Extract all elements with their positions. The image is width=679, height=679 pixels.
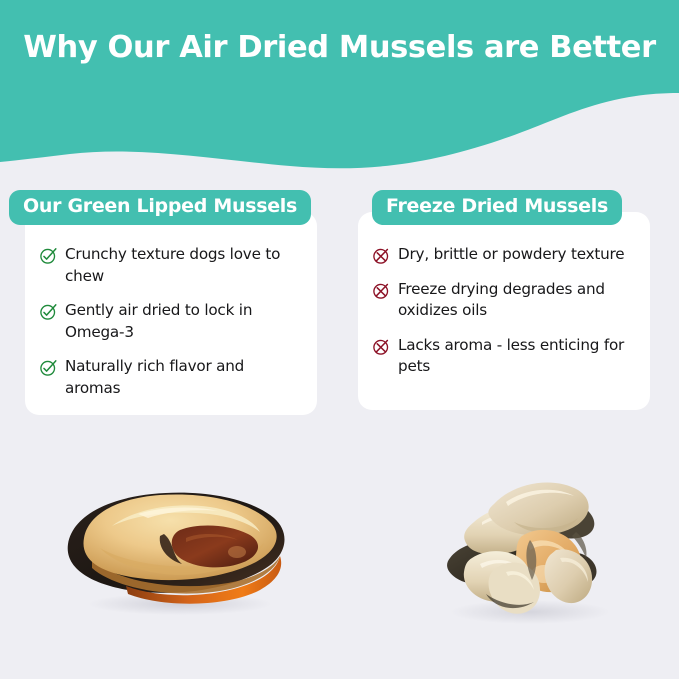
drawbacks-list: Dry, brittle or powdery texture Freeze d… [372,244,636,378]
list-item: Lacks aroma - less enticing for pets [372,335,636,378]
list-item-label: Gently air dried to lock in Omega-3 [65,300,303,343]
benefits-list: Crunchy texture dogs love to chew Gently… [39,244,303,399]
comparison-columns: Crunchy texture dogs love to chew Gently… [0,190,679,440]
list-item-label: Freeze drying degrades and oxidizes oils [398,279,636,322]
column-heading-pill: Freeze Dried Mussels [372,190,622,225]
column-heading-pill: Our Green Lipped Mussels [9,190,311,225]
x-circle-icon [372,281,391,300]
x-circle-icon [372,246,391,265]
list-item-label: Dry, brittle or powdery texture [398,244,624,266]
product-image-air-dried-mussel [52,468,300,618]
list-item-label: Crunchy texture dogs love to chew [65,244,303,287]
product-image-freeze-dried-mussels [426,462,626,630]
benefits-card: Crunchy texture dogs love to chew Gently… [25,212,317,415]
drawbacks-card: Dry, brittle or powdery texture Freeze d… [358,212,650,410]
list-item: Freeze drying degrades and oxidizes oils [372,279,636,322]
check-circle-icon [39,246,58,265]
product-images [0,440,679,679]
list-item: Crunchy texture dogs love to chew [39,244,303,287]
list-item: Naturally rich flavor and aromas [39,356,303,399]
check-circle-icon [39,302,58,321]
list-item: Gently air dried to lock in Omega-3 [39,300,303,343]
header-wave-shape [0,0,679,172]
list-item: Dry, brittle or powdery texture [372,244,636,266]
column-our-green-lipped-mussels: Crunchy texture dogs love to chew Gently… [9,190,317,440]
list-item-label: Naturally rich flavor and aromas [65,356,303,399]
check-circle-icon [39,358,58,377]
list-item-label: Lacks aroma - less enticing for pets [398,335,636,378]
header-banner: Why Our Air Dried Mussels are Better [0,0,679,172]
column-freeze-dried-mussels: Dry, brittle or powdery texture Freeze d… [358,190,666,440]
page-title: Why Our Air Dried Mussels are Better [0,30,679,65]
x-circle-icon [372,337,391,356]
